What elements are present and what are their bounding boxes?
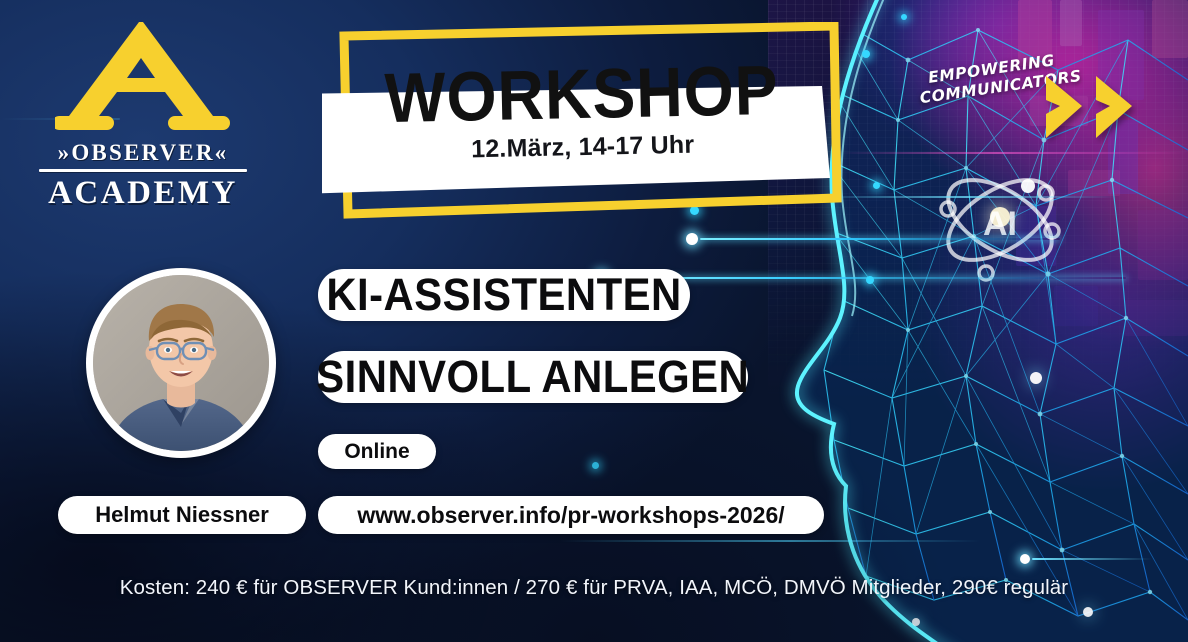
pricing-text: Kosten: 240 € für OBSERVER Kund:innen / … xyxy=(0,576,1188,600)
letter-a-logo-icon xyxy=(55,18,231,138)
format-label: Online xyxy=(344,440,409,464)
format-pill: Online xyxy=(318,434,436,469)
double-chevron-right-icon xyxy=(1042,70,1152,144)
workshop-banner: WORKSHOP 12.März, 14-17 Uhr xyxy=(322,22,852,222)
logo-academy-text: ACADEMY xyxy=(33,175,253,212)
logo-divider xyxy=(39,169,247,172)
registration-url[interactable]: www.observer.info/pr-workshops-2026/ xyxy=(357,502,784,529)
topic-line-2: SINNVOLL ANLEGEN xyxy=(317,351,750,403)
speaker-portrait xyxy=(93,275,269,451)
workshop-title: WORKSHOP xyxy=(384,58,779,131)
logo-observer-text: »OBSERVER« xyxy=(33,140,253,166)
topic-line-1-pill: KI-ASSISTENTEN xyxy=(318,269,690,321)
topic-line-2-pill: SINNVOLL ANLEGEN xyxy=(318,351,748,403)
workshop-date-time: 12.März, 14-17 Uhr xyxy=(471,130,695,164)
speaker-name-pill: Helmut Niessner xyxy=(58,496,306,534)
workshop-promo-banner: AI »OBSERVER« ACADEMY xyxy=(0,0,1188,642)
speaker-name: Helmut Niessner xyxy=(95,502,269,528)
avatar xyxy=(86,268,276,458)
registration-url-pill[interactable]: www.observer.info/pr-workshops-2026/ xyxy=(318,496,824,534)
topic-line-1: KI-ASSISTENTEN xyxy=(326,269,681,321)
observer-academy-logo: »OBSERVER« ACADEMY xyxy=(33,18,253,212)
